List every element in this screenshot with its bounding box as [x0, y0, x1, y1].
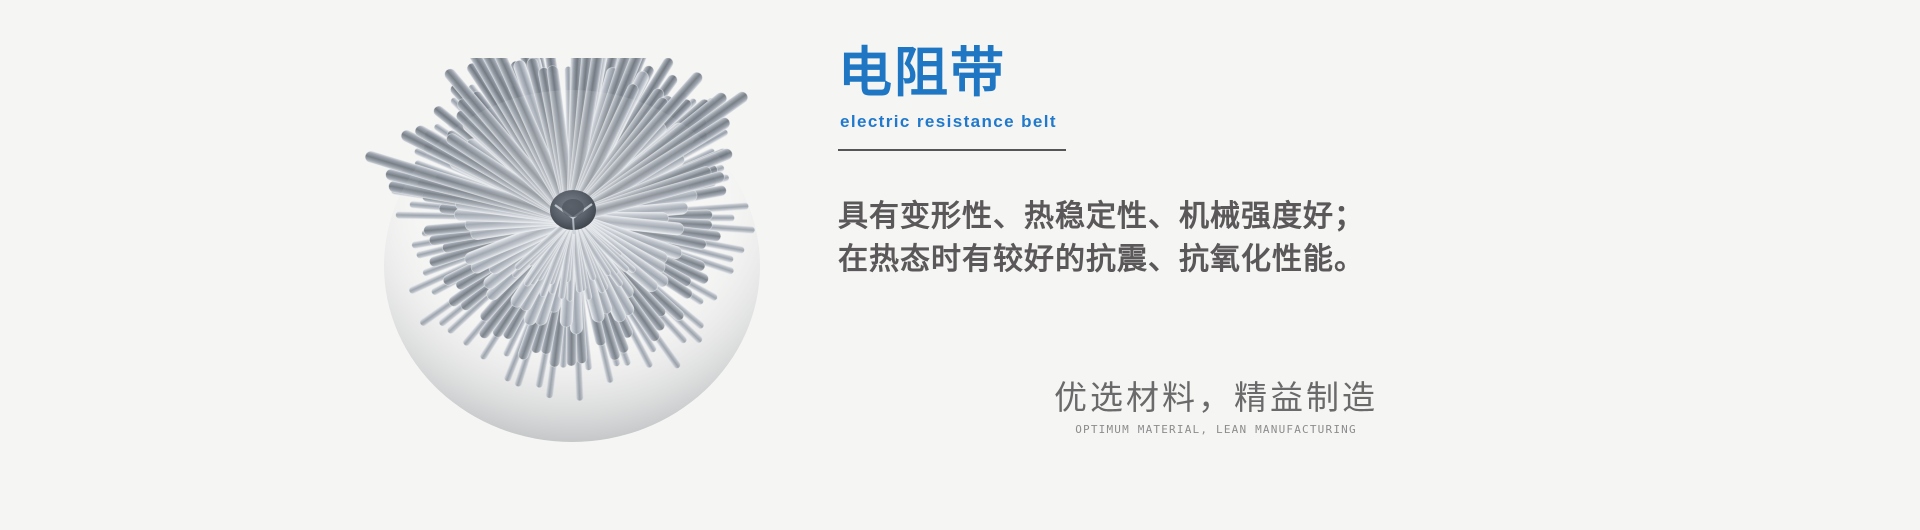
description-line-2: 在热态时有较好的抗震、抗氧化性能。	[838, 238, 1638, 281]
text-block: 电阻带 electric resistance belt 具有变形性、热稳定性、…	[838, 42, 1638, 492]
page-title: 电阻带	[838, 42, 1638, 104]
page-subtitle: electric resistance belt	[840, 112, 1638, 132]
product-image	[352, 58, 792, 478]
description-block: 具有变形性、热稳定性、机械强度好； 在热态时有较好的抗震、抗氧化性能。	[838, 195, 1638, 281]
tagline-english: OPTIMUM MATERIAL, LEAN MANUFACTURING	[1006, 422, 1426, 438]
title-divider	[838, 149, 1066, 151]
tagline-block: 优选材料，精益制造 OPTIMUM MATERIAL, LEAN MANUFAC…	[1006, 378, 1426, 438]
strip-loops-back	[364, 58, 755, 401]
tagline-chinese: 优选材料，精益制造	[1006, 378, 1426, 418]
product-banner: 电阻带 electric resistance belt 具有变形性、热稳定性、…	[0, 0, 1920, 530]
description-line-1: 具有变形性、热稳定性、机械强度好；	[838, 195, 1638, 238]
